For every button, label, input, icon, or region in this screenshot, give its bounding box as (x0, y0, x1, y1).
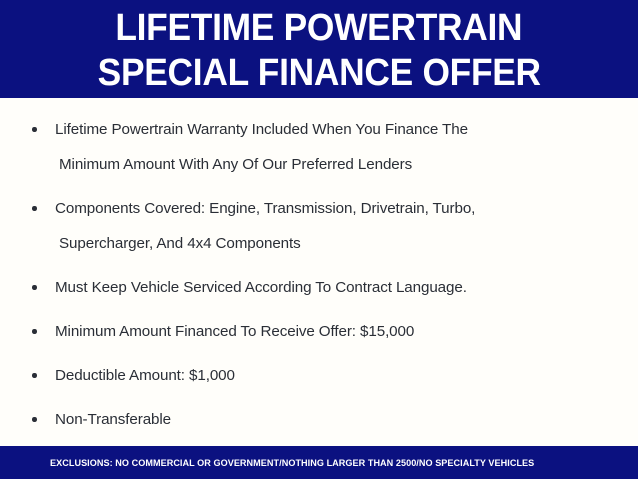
offer-terms-list: Lifetime Powertrain Warranty Included Wh… (22, 112, 620, 437)
list-item: Deductible Amount: $1,000 (22, 358, 620, 393)
list-item: Components Covered: Engine, Transmission… (22, 191, 620, 261)
list-item-line-1: Must Keep Vehicle Serviced According To … (55, 279, 467, 296)
list-item-line-1: Lifetime Powertrain Warranty Included Wh… (55, 121, 468, 138)
list-item-line-1: Deductible Amount: $1,000 (55, 367, 235, 384)
bullet-dot-icon (32, 206, 37, 211)
exclusions-text: EXCLUSIONS: NO COMMERCIAL OR GOVERNMENT/… (50, 458, 534, 468)
list-item-line-1: Non-Transferable (55, 411, 171, 428)
page-title-line-2: SPECIAL FINANCE OFFER (97, 51, 540, 96)
body-content: Lifetime Powertrain Warranty Included Wh… (0, 98, 638, 446)
bullet-dot-icon (32, 127, 37, 132)
list-item-line-2: Minimum Amount With Any Of Our Preferred… (55, 147, 620, 182)
bullet-dot-icon (32, 373, 37, 378)
offer-slide: LIFETIME POWERTRAIN SPECIAL FINANCE OFFE… (0, 0, 638, 479)
list-item: Must Keep Vehicle Serviced According To … (22, 270, 620, 305)
list-item: Non-Transferable (22, 402, 620, 437)
list-item-line-1: Minimum Amount Financed To Receive Offer… (55, 323, 414, 340)
list-item: Lifetime Powertrain Warranty Included Wh… (22, 112, 620, 182)
footer-banner: EXCLUSIONS: NO COMMERCIAL OR GOVERNMENT/… (0, 446, 638, 479)
bullet-dot-icon (32, 285, 37, 290)
bullet-dot-icon (32, 329, 37, 334)
header-banner: LIFETIME POWERTRAIN SPECIAL FINANCE OFFE… (0, 0, 638, 98)
list-item: Minimum Amount Financed To Receive Offer… (22, 314, 620, 349)
bullet-dot-icon (32, 417, 37, 422)
page-title-line-1: LIFETIME POWERTRAIN (116, 6, 523, 51)
list-item-line-2: Supercharger, And 4x4 Components (55, 226, 620, 261)
list-item-line-1: Components Covered: Engine, Transmission… (55, 200, 475, 217)
